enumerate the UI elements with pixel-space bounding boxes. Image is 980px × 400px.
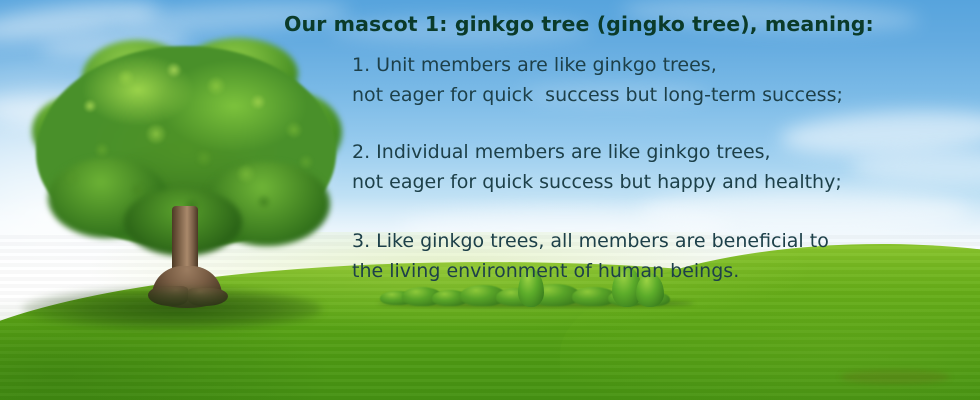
- mascot-meaning-item-1: 1. Unit members are like ginkgo trees, n…: [352, 50, 843, 110]
- item-3-line-2: the living environment of human beings.: [352, 260, 739, 282]
- item-3-line-1: 3. Like ginkgo trees, all members are be…: [352, 230, 829, 252]
- item-1-line-2: not eager for quick success but long-ter…: [352, 84, 843, 106]
- mascot-meaning-item-3: 3. Like ginkgo trees, all members are be…: [352, 226, 829, 286]
- item-2-line-2: not eager for quick success but happy an…: [352, 171, 842, 193]
- page-title: Our mascot 1: ginkgo tree (gingko tree),…: [284, 12, 874, 36]
- banner-copy: Our mascot 1: ginkgo tree (gingko tree),…: [0, 0, 980, 400]
- item-1-line-1: 1. Unit members are like ginkgo trees,: [352, 54, 717, 76]
- ginkgo-mascot-banner: Our mascot 1: ginkgo tree (gingko tree),…: [0, 0, 980, 400]
- item-2-line-1: 2. Individual members are like ginkgo tr…: [352, 141, 771, 163]
- mascot-meaning-item-2: 2. Individual members are like ginkgo tr…: [352, 137, 842, 197]
